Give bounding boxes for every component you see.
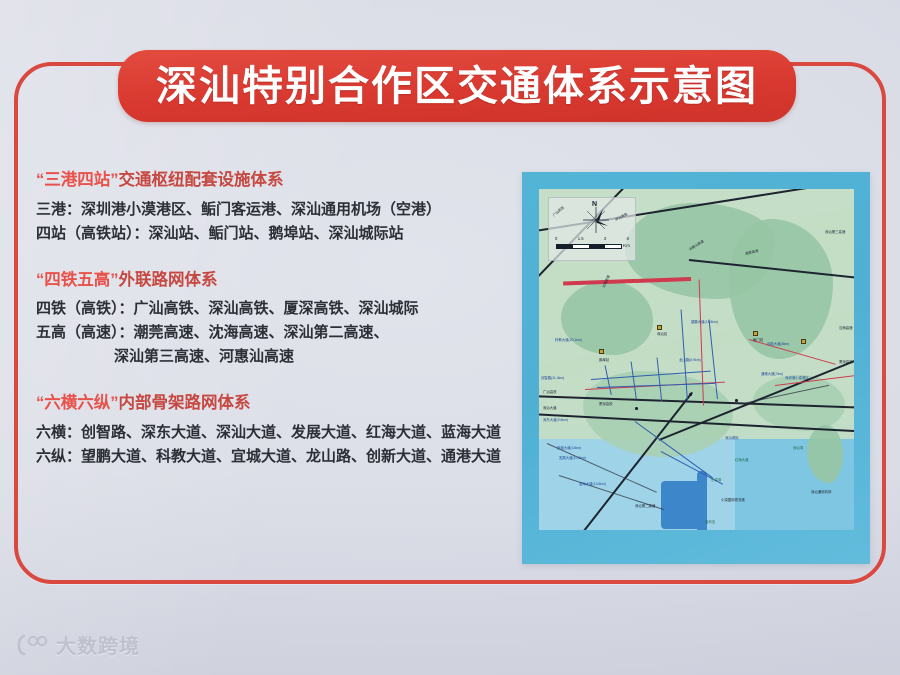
map-scale-unit: Km [623,243,630,248]
scale-tick: 1.5 [578,236,584,241]
map-label: 深汕站 [657,331,667,336]
map-scale-bar [556,244,622,249]
info-line: 六横：创智路、深东大道、深汕大道、发展大道、红海大道、蓝海大道 [36,421,506,445]
section-hubs: “三港四站”交通枢纽配套设施体系 三港：深圳港小漠港区、鲘门客运港、深汕通用机场… [36,170,506,246]
scale-tick: 0 [555,236,557,241]
map-label: 宜城大道(14km) [557,445,581,450]
section-heading: “三港四站”交通枢纽配套设施体系 [36,170,506,191]
map-label: 鲘门站 [753,337,763,342]
map-label: 沈海高速 [839,325,853,330]
map-canvas: N 0 1.5 3 6 Km 望鹏大道(16.8 [539,189,854,530]
map-label: 深东大道(9.6km) [543,417,568,422]
watermark-text: 大数跨境 [56,630,140,659]
compass-rose-icon: N [579,202,613,236]
map-marker-shenshan-station [657,325,662,330]
map-label: 金屿岛 [705,519,715,524]
map-label: 深汕第二高速 [635,503,655,508]
section-heading-quoted: “四铁五高” [36,271,119,289]
map-label: 深汕第三高速 [825,229,845,234]
map-label: 发展大道(10.3km) [559,455,586,460]
section-heading-rest: 内部骨架路网体系 [119,394,251,412]
poster-title-banner: 深汕特别合作区交通体系示意图 [118,50,796,122]
section-heading-rest: 外联路网体系 [119,271,218,289]
map-label: 望鹏大道(16.8km) [691,319,718,324]
info-line: 五高（高速）：潮莞高速、沈海高速、深汕第二高速、 [36,321,506,345]
info-line: 四站（高铁站）：深汕站、鲘门站、鹅埠站、深汕城际站 [36,222,506,246]
watermark: 大数跨境 [14,630,140,659]
map-marker-ebu-station [599,349,604,354]
map-scale-ticks: 0 1.5 3 6 [555,236,629,241]
map-label: 小漠湾 [711,477,721,482]
section-heading: “四铁五高”外联路网体系 [36,270,506,291]
map-label: 小漠国际物流港 [721,497,745,502]
section-heading-rest: 交通枢纽配套设施体系 [119,171,284,189]
map-figure: N 0 1.5 3 6 Km 望鹏大道(16.8 [522,172,870,564]
section-heading-quoted: “三港四站” [36,171,119,189]
map-label: 深汕湾 [793,445,803,450]
section-internal-network: “六横六纵”内部骨架路网体系 六横：创智路、深东大道、深汕大道、发展大道、红海大… [36,393,506,469]
map-marker-port [801,339,806,344]
map-marker-goumen-station [753,331,758,336]
map-label: 厦深高铁 [839,359,853,364]
map-label: 创智路(11.4km) [541,375,564,380]
map-label: 深汕通用机场 [811,489,831,494]
info-line: 三港：深圳港小漠港区、鲘门客运港、深汕通用机场（空港） [36,198,506,222]
map-label: 厦深高铁 [599,401,613,406]
section-heading-quoted: “六横六纵” [36,394,119,412]
info-line: 四铁（高铁）：广汕高铁、深汕高铁、厦深高铁、深汕城际 [36,297,506,321]
scale-tick: 6 [627,236,629,241]
map-label: 广汕高铁 [543,389,557,394]
map-label: 深汕城际 [725,435,739,440]
map-label: 鹅埠站 [599,357,609,362]
page-title: 深汕特别合作区交通体系示意图 [156,66,758,107]
section-heading: “六横六纵”内部骨架路网体系 [36,393,506,414]
map-label: 深汕大道 [543,405,557,410]
map-label: 通港大道(7km) [761,371,783,376]
info-panel: “三港四站”交通枢纽配套设施体系 三港：深圳港小漠港区、鲘门客运港、深汕通用机场… [36,170,506,469]
map-label: 龙山路(6.9km) [679,357,701,362]
map-node-junction-1 [689,393,692,396]
info-line: 深汕第三高速、河惠汕高速 [36,345,506,369]
map-node-junction-3 [635,407,638,410]
map-label: 科教大道(20.1km) [555,337,582,342]
compass-north-label: N [592,201,597,208]
map-label: 红海大道 [735,457,749,462]
map-label: 深圳港小漠港区 [785,375,809,380]
map-label: 蓝海大道(13.6km) [579,481,606,486]
map-node-junction-2 [735,399,738,402]
section-external-network: “四铁五高”外联路网体系 四铁（高铁）：广汕高铁、深汕高铁、厦深高铁、深汕城际 … [36,270,506,370]
map-label: 创新大道(8km) [767,341,789,346]
scale-tick: 3 [604,236,606,241]
dashu-logo-icon [14,633,48,657]
map-hills-west [561,281,653,355]
info-line: 六纵：望鹏大道、科教大道、宜城大道、龙山路、创新大道、通港大道 [36,445,506,469]
